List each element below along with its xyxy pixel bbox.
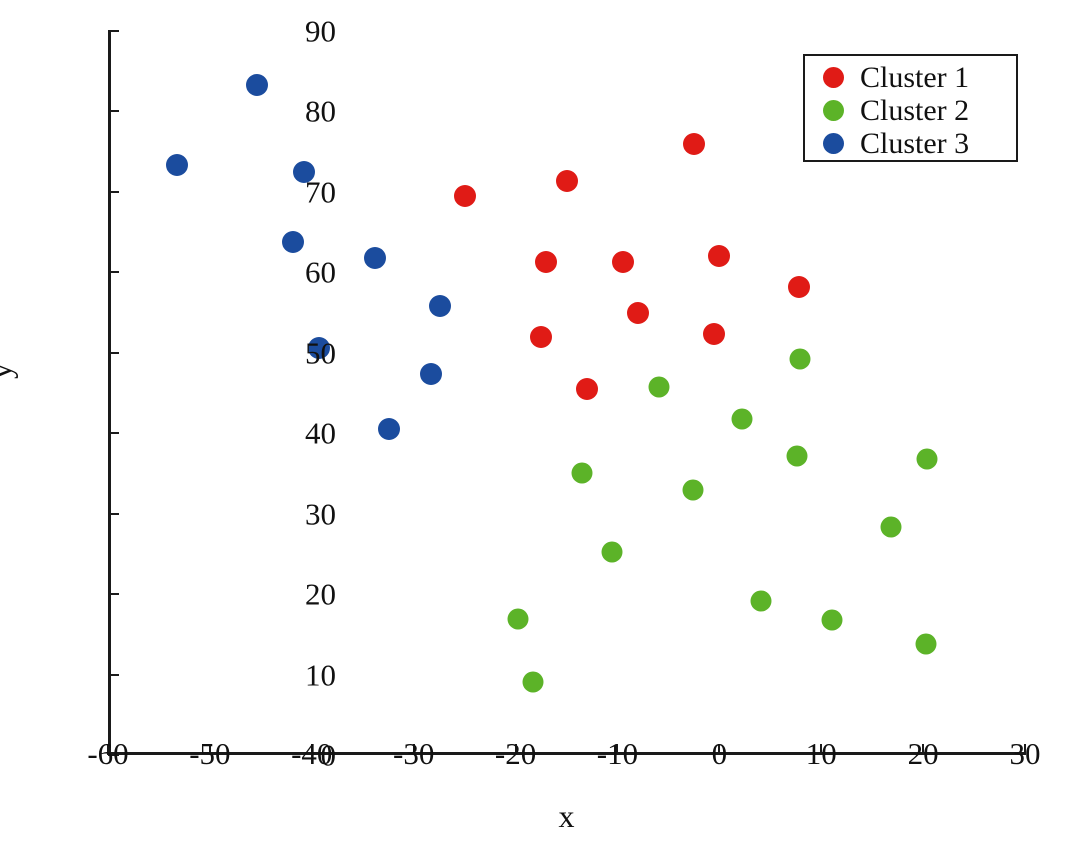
legend-marker-icon: [823, 133, 844, 154]
y-axis-label: y: [0, 363, 16, 379]
y-tick: [108, 191, 119, 193]
data-point: [282, 231, 304, 253]
y-tick-label: 80: [305, 96, 336, 127]
scatter-plot-figure: -60-50-40-30-20-100102030 01020304050607…: [0, 0, 1067, 852]
data-point: [556, 170, 578, 192]
x-tick-label: -30: [393, 738, 434, 769]
data-point: [429, 295, 451, 317]
y-tick-label: 40: [305, 418, 336, 449]
data-point: [535, 251, 557, 273]
y-tick-label: 90: [305, 16, 336, 47]
y-tick-label: 20: [305, 579, 336, 610]
x-tick-label: 30: [1010, 738, 1041, 769]
y-tick-label: 0: [321, 740, 337, 771]
y-tick: [108, 30, 119, 32]
data-point: [530, 326, 552, 348]
x-axis-line: [108, 752, 1025, 755]
legend-box: Cluster 1Cluster 2Cluster 3: [803, 54, 1018, 162]
x-tick-label: 10: [806, 738, 837, 769]
data-point: [880, 516, 901, 537]
legend-marker-icon: [823, 67, 844, 88]
legend-entry: Cluster 2: [805, 94, 1016, 127]
y-tick: [108, 271, 119, 273]
y-tick: [108, 674, 119, 676]
data-point: [166, 154, 188, 176]
x-tick-label: 0: [712, 738, 728, 769]
y-tick: [108, 352, 119, 354]
data-point: [420, 363, 442, 385]
y-tick-label: 10: [305, 659, 336, 690]
y-tick-label: 50: [305, 337, 336, 368]
data-point: [703, 323, 725, 345]
x-tick-label: 20: [908, 738, 939, 769]
legend-entry: Cluster 1: [805, 61, 1016, 94]
y-tick-label: 30: [305, 498, 336, 529]
data-point: [576, 378, 598, 400]
data-point: [751, 590, 772, 611]
data-point: [789, 349, 810, 370]
data-point: [731, 408, 752, 429]
data-point: [788, 276, 810, 298]
data-point: [364, 247, 386, 269]
x-tick-label: -60: [87, 738, 128, 769]
y-tick: [108, 513, 119, 515]
legend-label: Cluster 2: [860, 96, 969, 126]
x-tick-label: -50: [189, 738, 230, 769]
legend-entry: Cluster 3: [805, 127, 1016, 160]
y-tick-label: 60: [305, 257, 336, 288]
data-point: [378, 418, 400, 440]
data-point: [602, 542, 623, 563]
data-point: [682, 480, 703, 501]
legend-label: Cluster 3: [860, 129, 969, 159]
data-point: [786, 445, 807, 466]
x-axis-label: x: [108, 800, 1025, 832]
data-point: [683, 133, 705, 155]
data-point: [454, 185, 476, 207]
data-point: [612, 251, 634, 273]
y-tick: [108, 593, 119, 595]
data-point: [522, 671, 543, 692]
data-point: [246, 74, 268, 96]
y-tick: [108, 432, 119, 434]
x-tick-label: -20: [495, 738, 536, 769]
data-point: [649, 376, 670, 397]
y-tick: [108, 110, 119, 112]
data-point: [822, 609, 843, 630]
data-point: [507, 609, 528, 630]
data-point: [917, 448, 938, 469]
y-axis-line: [108, 31, 111, 755]
data-point: [708, 245, 730, 267]
legend-marker-icon: [823, 100, 844, 121]
x-tick-label: -10: [597, 738, 638, 769]
legend-label: Cluster 1: [860, 63, 969, 93]
data-point: [627, 302, 649, 324]
data-point: [571, 463, 592, 484]
data-point: [916, 633, 937, 654]
y-tick-label: 70: [305, 176, 336, 207]
